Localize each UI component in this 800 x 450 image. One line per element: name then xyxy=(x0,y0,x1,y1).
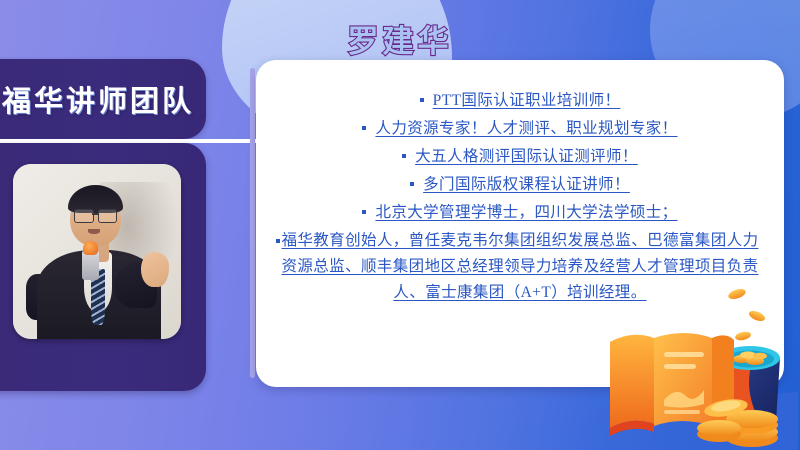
credential-list: PTT国际认证职业培训师！ 人力资源专家！人才测评、职业规划专家！ 大五人格测评… xyxy=(274,88,766,308)
list-item: PTT国际认证职业培训师！ xyxy=(274,88,766,114)
list-item: 人力资源专家！人才测评、职业规划专家！ xyxy=(274,116,766,142)
profile-card: PTT国际认证职业培训师！ 人力资源专家！人才测评、职业规划专家！ 大五人格测评… xyxy=(256,60,784,387)
list-item: 福华教育创始人，曾任麦克韦尔集团组织发展总监、巴德富集团人力资源总监、顺丰集团地… xyxy=(274,228,766,306)
page-title: 福华讲师团队 xyxy=(2,78,194,120)
bullet-dot-icon xyxy=(362,210,366,214)
coin-stack-icon xyxy=(697,396,778,447)
bullet-dot-icon xyxy=(402,154,406,158)
speaker-name: 罗建华 xyxy=(0,16,800,61)
bullet-dot-icon xyxy=(276,239,280,243)
bullet-dot-icon xyxy=(362,126,366,130)
ground-shade xyxy=(602,392,798,450)
avatar xyxy=(13,164,181,339)
speaker-photo-panel xyxy=(0,143,206,391)
list-item: 大五人格测评国际认证测评师！ xyxy=(274,144,766,170)
slide-canvas: 福华讲师团队 罗建华 PTT国际认证职业培训师！ xyxy=(0,0,800,450)
bullet-dot-icon xyxy=(420,98,424,102)
list-item: 北京大学管理学博士，四川大学法学硕士； xyxy=(274,200,766,226)
team-title-panel: 福华讲师团队 xyxy=(0,59,206,139)
bullet-dot-icon xyxy=(410,182,414,186)
card-accent-bar xyxy=(250,68,255,378)
list-item: 多门国际版权课程认证讲师！ xyxy=(274,172,766,198)
